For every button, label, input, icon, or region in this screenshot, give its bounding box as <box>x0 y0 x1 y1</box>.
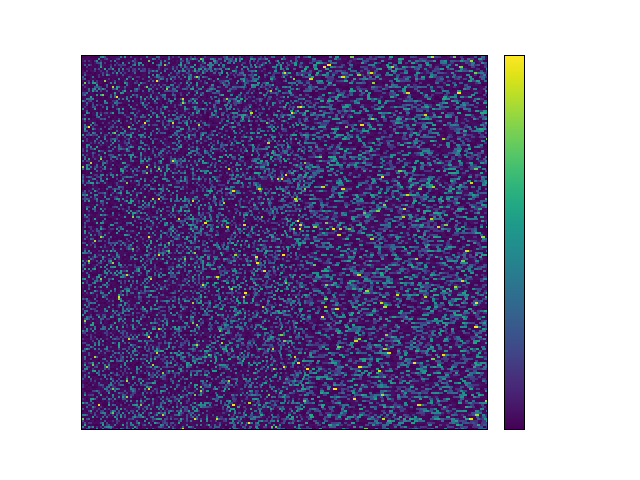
colorbar <box>504 55 525 430</box>
ionogram-heatmap <box>82 56 487 429</box>
plot-area <box>81 55 488 430</box>
ionogram-figure <box>0 0 640 480</box>
colorbar-gradient <box>505 56 524 429</box>
